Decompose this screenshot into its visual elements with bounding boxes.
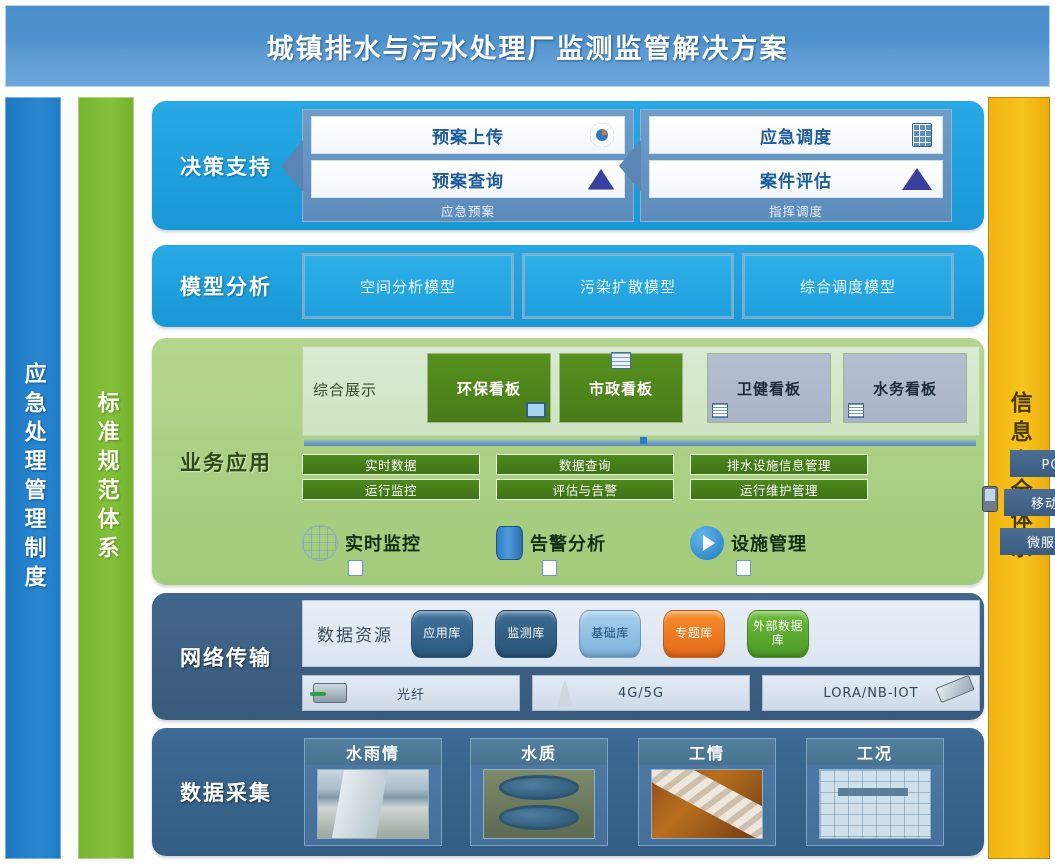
kanban-water-label: 水务看板 — [873, 378, 937, 399]
layer-stack: 决策支持 预案上传 预案查询 应急预案 应急调度 — [152, 97, 984, 859]
arrow-notch-icon — [619, 140, 641, 192]
feature-facility-management[interactable]: 设施管理 — [690, 514, 868, 572]
kanban-water[interactable]: 水务看板 — [843, 353, 967, 423]
kanban-health[interactable]: 卫健看板 — [707, 353, 831, 423]
tag-assessment-alarm[interactable]: 评估与告警 — [496, 479, 674, 500]
ring-icon — [590, 123, 614, 147]
page-title: 城镇排水与污水处理厂监测监管解决方案 — [267, 27, 789, 66]
transmission-fiber-label: 光纤 — [397, 684, 425, 703]
kanban-municipal[interactable]: 市政看板 — [559, 353, 683, 423]
river-photo — [317, 769, 429, 839]
transmission-lora[interactable]: LORA/NB-IOT — [762, 675, 980, 711]
panel-data-resources-label: 数据资源 — [317, 621, 393, 646]
data-card-water-quality[interactable]: 水质 — [470, 738, 608, 846]
layer-network-transport: 网络传输 数据资源 应用库 监测库 基础库 专题库 外部数据库 光纤 — [152, 593, 984, 720]
tag-drainage-facility-info[interactable]: 排水设施信息管理 — [690, 454, 868, 475]
button-plan-upload-label: 预案上传 — [432, 123, 504, 148]
monitor-icon — [526, 402, 546, 418]
button-plan-query-label: 预案查询 — [432, 167, 504, 192]
pillar-emergency-management: 应急处理管理制度 — [5, 97, 61, 859]
tag-data-query[interactable]: 数据查询 — [496, 454, 674, 475]
button-plan-upload[interactable]: 预案上传 — [311, 116, 625, 154]
button-case-assessment-label: 案件评估 — [760, 167, 832, 192]
model-box-spatial[interactable]: 空间分析模型 — [302, 253, 514, 319]
transmission-lora-label: LORA/NB-IOT — [823, 686, 918, 701]
architecture-diagram: 城镇排水与污水处理厂监测监管解决方案 应急处理管理制度 标准规范体系 信息安全体… — [0, 0, 1055, 868]
group-emergency-plan-caption: 应急预案 — [303, 201, 633, 219]
terminal-list: PC端 移动端 微服务 — [990, 450, 1055, 567]
page-title-bar: 城镇排水与污水处理厂监测监管解决方案 — [5, 5, 1050, 87]
terminal-mobile-label: 移动端 — [1031, 493, 1055, 512]
tag-operation-monitoring[interactable]: 运行监控 — [302, 479, 480, 500]
data-card-engineering-label: 工情 — [639, 739, 775, 765]
divider — [304, 440, 976, 446]
phone-icon — [982, 486, 998, 512]
transmission-cellular-label: 4G/5G — [618, 686, 664, 701]
pipeline-photo — [651, 769, 763, 839]
model-box-dispatch[interactable]: 综合调度模型 — [742, 253, 954, 319]
layer-data-acquisition: 数据采集 水雨情 水质 工情 工况 — [152, 728, 984, 856]
model-box-pollution-label: 污染扩散模型 — [580, 276, 676, 297]
scada-diagram — [819, 769, 931, 839]
data-card-operating-condition[interactable]: 工况 — [806, 738, 944, 846]
terminal-pc-label: PC端 — [1042, 454, 1055, 473]
treatment-plant-photo — [483, 769, 595, 839]
kanban-environment[interactable]: 环保看板 — [427, 353, 551, 423]
tag-maintenance-management[interactable]: 运行维护管理 — [690, 479, 868, 500]
panel-data-resources: 数据资源 应用库 监测库 基础库 专题库 外部数据库 — [302, 600, 980, 667]
terminal-pc[interactable]: PC端 — [1010, 450, 1055, 477]
business-column-monitoring: 实时数据 运行监控 实时监控 — [302, 454, 480, 574]
database-application[interactable]: 应用库 — [411, 610, 473, 658]
button-plan-query[interactable]: 预案查询 — [311, 160, 625, 198]
layer-business-application: 业务应用 综合展示 环保看板 市政看板 卫健看板 水务看板 — [152, 338, 984, 585]
pillar-standards-system: 标准规范体系 — [78, 97, 134, 859]
document-icon — [736, 560, 751, 576]
database-basic[interactable]: 基础库 — [579, 610, 641, 658]
button-emergency-dispatch-label: 应急调度 — [760, 123, 832, 148]
fiber-icon — [313, 683, 347, 703]
button-emergency-dispatch[interactable]: 应急调度 — [649, 116, 943, 154]
terminal-microservice[interactable]: 微服务 — [1000, 528, 1055, 555]
database-external[interactable]: 外部数据库 — [747, 610, 809, 658]
transmission-list: 光纤 4G/5G LORA/NB-IOT — [302, 675, 980, 711]
button-case-assessment[interactable]: 案件评估 — [649, 160, 943, 198]
document-icon — [848, 403, 864, 418]
business-column-facility: 排水设施信息管理 运行维护管理 设施管理 — [690, 454, 868, 574]
feature-facility-management-label: 设施管理 — [731, 530, 807, 556]
feature-alarm-analysis[interactable]: 告警分析 — [496, 514, 674, 572]
database-icon — [496, 526, 523, 560]
arrow-notch-icon — [281, 140, 303, 192]
kanban-environment-label: 环保看板 — [457, 378, 521, 399]
document-icon — [542, 560, 557, 576]
database-list: 应用库 监测库 基础库 专题库 外部数据库 — [411, 610, 809, 658]
layer-business-application-label: 业务应用 — [152, 338, 300, 585]
model-box-pollution[interactable]: 污染扩散模型 — [522, 253, 734, 319]
data-card-operating-condition-label: 工况 — [807, 739, 943, 765]
feature-alarm-analysis-label: 告警分析 — [530, 530, 606, 556]
pyramid-solid-icon — [902, 168, 932, 190]
layer-decision-support: 决策支持 预案上传 预案查询 应急预案 应急调度 — [152, 101, 984, 230]
kanban-municipal-label: 市政看板 — [589, 378, 653, 399]
pillar-standards-system-label: 标准规范体系 — [93, 391, 118, 565]
business-column-alarm: 数据查询 评估与告警 告警分析 — [496, 454, 674, 574]
kanban-health-label: 卫健看板 — [737, 378, 801, 399]
layer-model-analysis-label: 模型分析 — [152, 245, 300, 327]
transmission-fiber[interactable]: 光纤 — [302, 675, 520, 711]
panel-comprehensive-display: 综合展示 环保看板 市政看板 卫健看板 水务看板 — [302, 346, 980, 436]
group-command-dispatch-caption: 指挥调度 — [641, 201, 951, 219]
terminal-mobile[interactable]: 移动端 — [1004, 489, 1055, 516]
data-card-rainfall-label: 水雨情 — [305, 739, 441, 765]
document-icon — [348, 560, 363, 576]
chip-icon — [935, 675, 974, 703]
layer-decision-support-label: 决策支持 — [152, 101, 300, 230]
window-icon — [611, 352, 631, 369]
pyramid-icon — [588, 169, 614, 189]
data-card-engineering[interactable]: 工情 — [638, 738, 776, 846]
feature-realtime-monitoring-label: 实时监控 — [345, 530, 421, 556]
play-icon — [690, 526, 724, 560]
terminal-microservice-label: 微服务 — [1027, 532, 1055, 551]
data-card-water-quality-label: 水质 — [471, 739, 607, 765]
database-thematic[interactable]: 专题库 — [663, 610, 725, 658]
group-emergency-plan: 预案上传 预案查询 应急预案 — [302, 109, 634, 222]
pillar-emergency-management-label: 应急处理管理制度 — [20, 362, 45, 594]
layer-data-acquisition-label: 数据采集 — [152, 728, 300, 856]
globe-icon — [302, 525, 338, 561]
panel-comprehensive-display-label: 综合展示 — [313, 379, 409, 400]
grid-icon — [912, 123, 932, 147]
antenna-icon — [557, 679, 573, 707]
group-command-dispatch: 应急调度 案件评估 指挥调度 — [640, 109, 952, 222]
layer-model-analysis: 模型分析 空间分析模型 污染扩散模型 综合调度模型 — [152, 245, 984, 327]
tag-realtime-data[interactable]: 实时数据 — [302, 454, 480, 475]
model-box-spatial-label: 空间分析模型 — [360, 276, 456, 297]
transmission-cellular[interactable]: 4G/5G — [532, 675, 750, 711]
data-card-rainfall[interactable]: 水雨情 — [304, 738, 442, 846]
feature-realtime-monitoring[interactable]: 实时监控 — [302, 514, 480, 572]
database-monitoring[interactable]: 监测库 — [495, 610, 557, 658]
document-icon — [712, 403, 728, 418]
model-box-dispatch-label: 综合调度模型 — [800, 276, 896, 297]
layer-network-transport-label: 网络传输 — [152, 593, 300, 720]
